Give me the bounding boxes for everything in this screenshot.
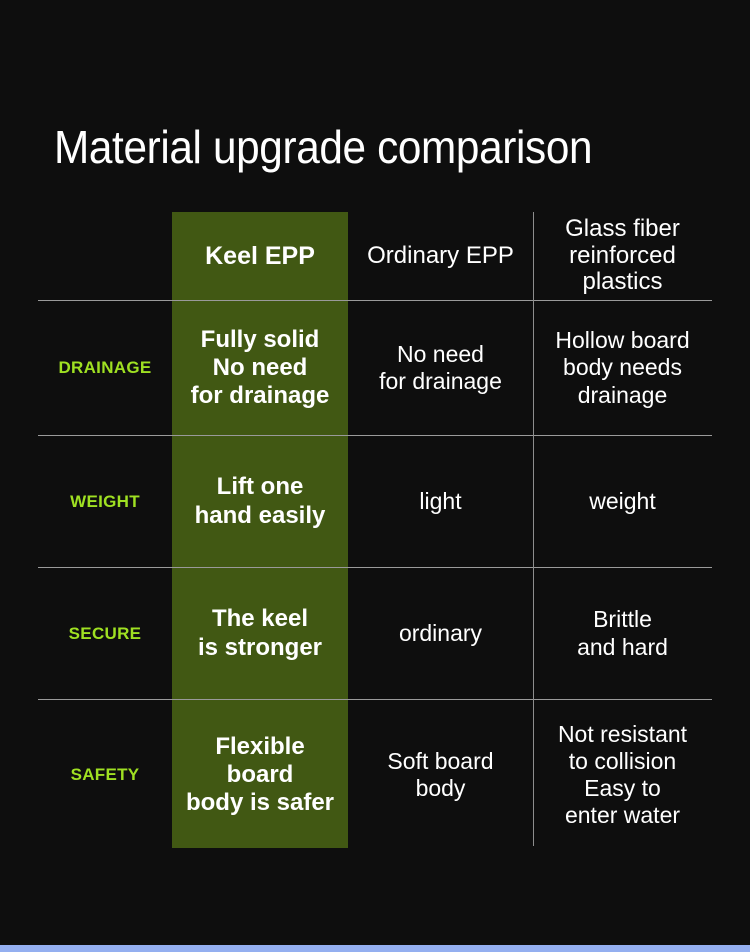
cell-ordinary: ordinary [348, 568, 533, 700]
cell-glass: Brittle and hard [533, 568, 712, 700]
header-cell-keel: Keel EPP [172, 212, 348, 301]
cell-value-glass: Hollow board body needs drainage [533, 327, 712, 408]
cell-ordinary: light [348, 436, 533, 568]
cell-glass: Hollow board body needs drainage [533, 301, 712, 436]
cell-value-ordinary: No need for drainage [348, 341, 533, 395]
row-label-safety: SAFETY [38, 765, 172, 785]
row-label-cell: WEIGHT [38, 436, 172, 568]
header-label-glass: Glass fiber reinforced plastics [533, 216, 712, 295]
page-title: Material upgrade comparison [54, 119, 661, 175]
cell-glass: Not resistant to collision Easy to enter… [533, 700, 712, 851]
table-row: SAFETY Flexible board body is safer Soft… [38, 700, 712, 851]
row-label-weight: WEIGHT [38, 492, 172, 512]
header-label-keel: Keel EPP [172, 242, 348, 271]
header-label-ordinary: Ordinary EPP [348, 242, 533, 270]
cell-keel: Fully solid No need for drainage [172, 301, 348, 436]
row-label-drainage: DRAINAGE [38, 358, 172, 378]
cell-value-keel: Lift one hand easily [172, 473, 348, 530]
row-label-cell: SECURE [38, 568, 172, 700]
header-cell-corner [38, 212, 172, 301]
header-cell-glass: Glass fiber reinforced plastics [533, 212, 712, 301]
header-cell-ordinary: Ordinary EPP [348, 212, 533, 301]
cell-ordinary: No need for drainage [348, 301, 533, 436]
cell-keel: Flexible board body is safer [172, 700, 348, 851]
comparison-table-area: Keel EPP Ordinary EPP Glass fiber reinfo… [38, 212, 712, 848]
cell-value-ordinary: Soft board body [348, 748, 533, 802]
cell-value-keel: The keel is stronger [172, 605, 348, 662]
comparison-infographic: Material upgrade comparison Keel EPP [0, 0, 750, 952]
comparison-table: Keel EPP Ordinary EPP Glass fiber reinfo… [38, 212, 712, 850]
cell-value-ordinary: light [348, 488, 533, 515]
cell-value-keel: Fully solid No need for drainage [172, 326, 348, 411]
bottom-accent-bar [0, 945, 750, 952]
cell-keel: The keel is stronger [172, 568, 348, 700]
table-row: WEIGHT Lift one hand easily light weight [38, 436, 712, 568]
row-label-cell: SAFETY [38, 700, 172, 851]
table-row: SECURE The keel is stronger ordinary Bri… [38, 568, 712, 700]
row-label-cell: DRAINAGE [38, 301, 172, 436]
table-header-row: Keel EPP Ordinary EPP Glass fiber reinfo… [38, 212, 712, 301]
cell-keel: Lift one hand easily [172, 436, 348, 568]
cell-value-glass: weight [533, 488, 712, 515]
column-divider-vertical [533, 212, 534, 846]
table-row: DRAINAGE Fully solid No need for drainag… [38, 301, 712, 436]
cell-value-keel: Flexible board body is safer [172, 733, 348, 818]
cell-ordinary: Soft board body [348, 700, 533, 851]
cell-value-glass: Not resistant to collision Easy to enter… [533, 721, 712, 830]
cell-value-ordinary: ordinary [348, 620, 533, 647]
cell-value-glass: Brittle and hard [533, 606, 712, 660]
row-label-secure: SECURE [38, 624, 172, 644]
cell-glass: weight [533, 436, 712, 568]
